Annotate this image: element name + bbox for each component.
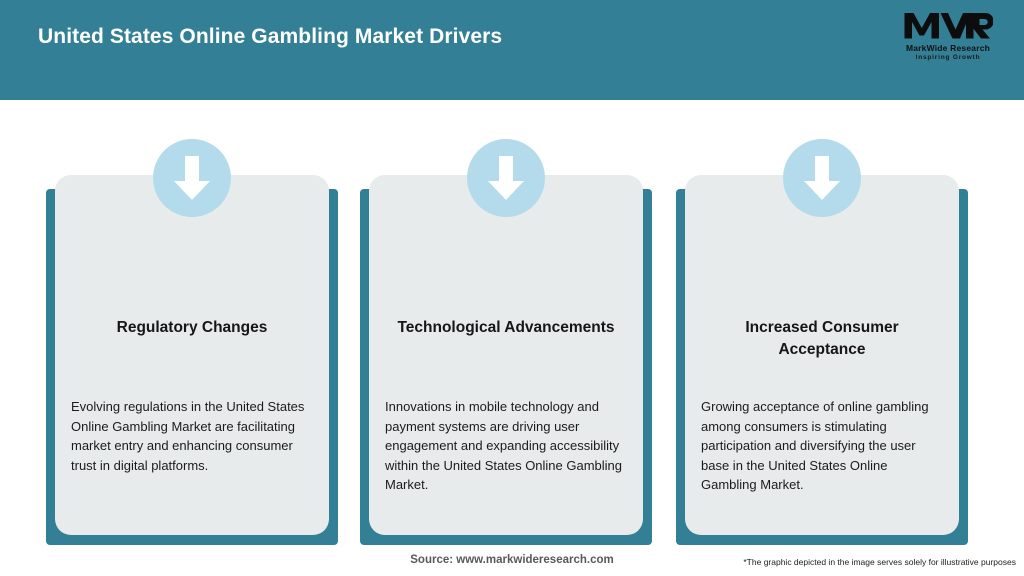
driver-card[interactable]: Regulatory Changes Evolving regulations … — [46, 175, 338, 545]
page-header: United States Online Gambling Market Dri… — [0, 0, 1024, 100]
mwr-logomark-icon — [903, 8, 993, 42]
arrow-down-icon — [467, 139, 545, 217]
arrow-down-icon — [783, 139, 861, 217]
driver-card[interactable]: Increased Consumer Acceptance Growing ac… — [676, 175, 968, 545]
drivers-card-row: Regulatory Changes Evolving regulations … — [0, 100, 1024, 546]
card-description: Innovations in mobile technology and pay… — [385, 397, 629, 495]
card-description: Growing acceptance of online gambling am… — [701, 397, 945, 495]
card-surface: Regulatory Changes Evolving regulations … — [55, 175, 329, 535]
card-description: Evolving regulations in the United State… — [71, 397, 315, 475]
page-footer: Source: www.markwideresearch.com *The gr… — [0, 546, 1024, 576]
arrow-down-glyph — [486, 154, 526, 202]
arrow-down-glyph — [172, 154, 212, 202]
card-title: Regulatory Changes — [73, 317, 311, 339]
page-title: United States Online Gambling Market Dri… — [38, 25, 502, 49]
disclaimer-note: *The graphic depicted in the image serve… — [743, 557, 1016, 567]
card-title: Increased Consumer Acceptance — [703, 317, 941, 361]
logo-tagline: Inspiring Growth — [894, 53, 1002, 62]
brand-logo: MarkWide Research Inspiring Growth — [894, 8, 1002, 70]
card-title: Technological Advancements — [387, 317, 625, 339]
arrow-down-icon — [153, 139, 231, 217]
card-surface: Technological Advancements Innovations i… — [369, 175, 643, 535]
logo-company-name: MarkWide Research — [894, 43, 1002, 53]
driver-card[interactable]: Technological Advancements Innovations i… — [360, 175, 652, 545]
card-surface: Increased Consumer Acceptance Growing ac… — [685, 175, 959, 535]
arrow-down-glyph — [802, 154, 842, 202]
